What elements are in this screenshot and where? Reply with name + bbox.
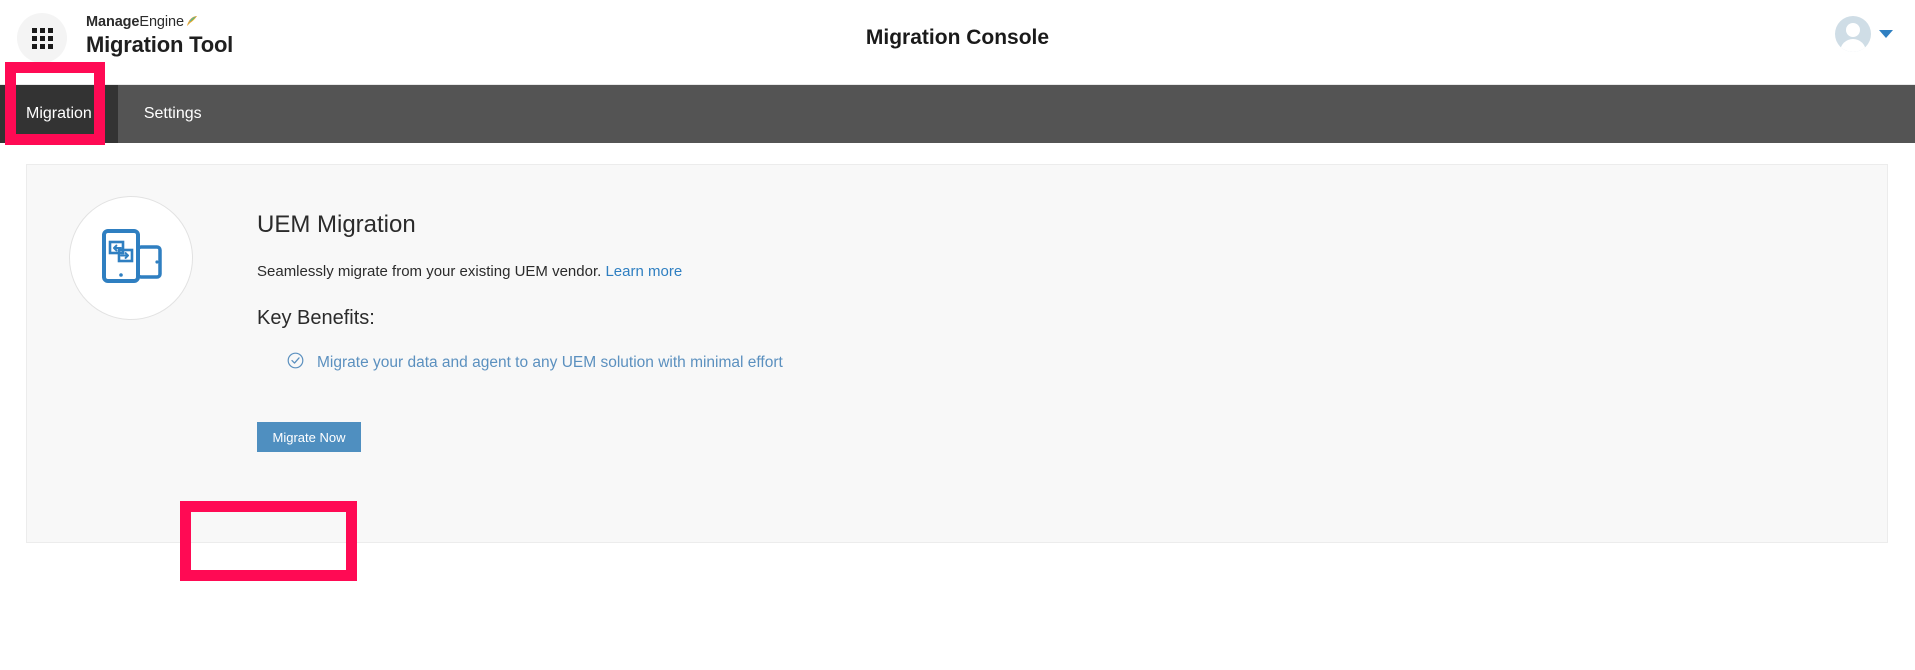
tab-settings-label: Settings	[144, 105, 202, 123]
top-header: ManageEngine Migration Tool Migration Co…	[0, 0, 1915, 85]
migrate-now-button[interactable]: Migrate Now	[257, 422, 361, 452]
tab-migration[interactable]: Migration	[0, 85, 118, 143]
card-description: Seamlessly migrate from your existing UE…	[257, 263, 1867, 280]
avatar	[1835, 16, 1871, 52]
main-navbar: Migration Settings	[0, 85, 1915, 143]
card-description-text: Seamlessly migrate from your existing UE…	[257, 263, 601, 280]
benefit-list-item: Migrate your data and agent to any UEM s…	[287, 352, 1867, 374]
chevron-down-icon[interactable]	[1879, 30, 1893, 38]
benefit-text: Migrate your data and agent to any UEM s…	[317, 354, 783, 372]
tab-migration-label: Migration	[26, 105, 92, 123]
check-circle-icon	[287, 352, 304, 374]
card-body: UEM Migration Seamlessly migrate from yo…	[257, 165, 1867, 374]
key-benefits-heading: Key Benefits:	[257, 307, 1867, 330]
uem-migration-card: UEM Migration Seamlessly migrate from yo…	[26, 164, 1888, 543]
main-content: UEM Migration Seamlessly migrate from yo…	[0, 143, 1915, 670]
card-title: UEM Migration	[257, 211, 1867, 239]
user-menu[interactable]	[1835, 16, 1893, 52]
device-migration-icon	[69, 196, 193, 320]
page-title: Migration Console	[0, 26, 1915, 50]
learn-more-link[interactable]: Learn more	[605, 263, 682, 280]
tab-settings[interactable]: Settings	[118, 85, 228, 143]
